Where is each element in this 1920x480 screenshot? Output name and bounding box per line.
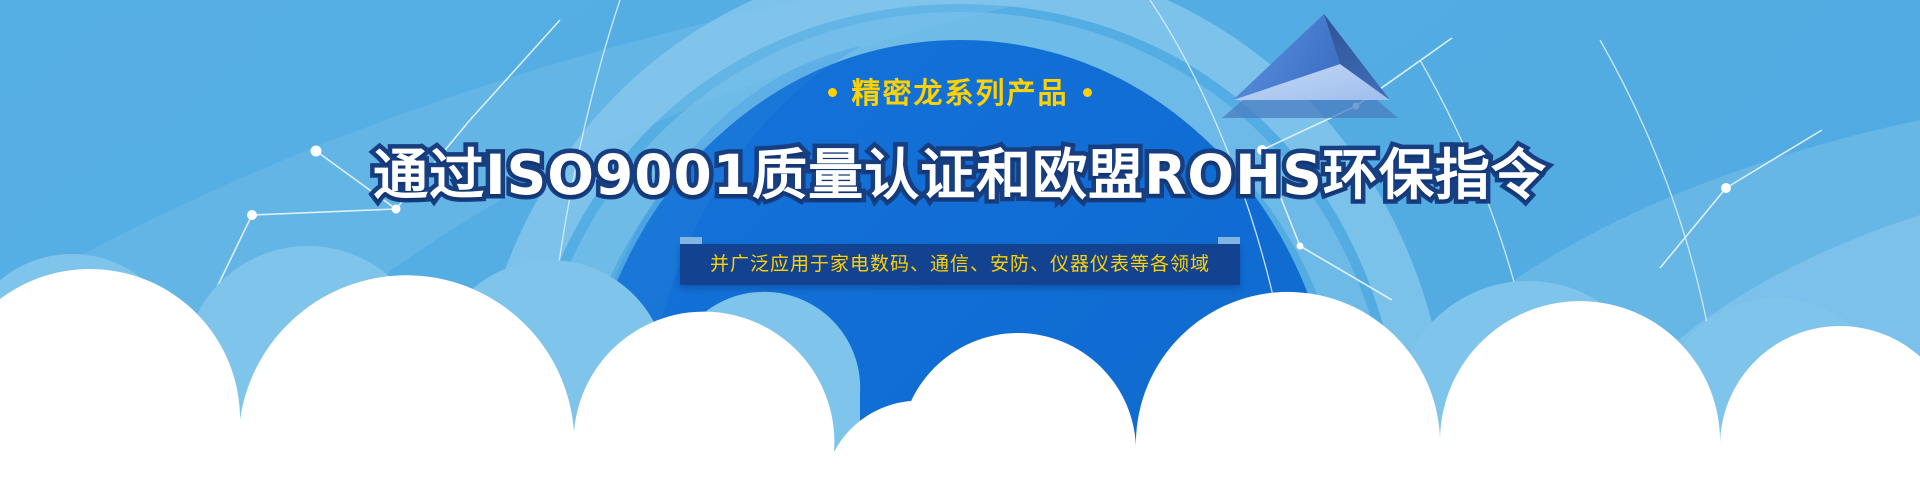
banner-artwork [0, 0, 1920, 480]
promo-banner: 精密龙系列产品 通过ISO9001质量认证和欧盟ROHS环保指令 并广泛应用于家… [0, 0, 1920, 480]
